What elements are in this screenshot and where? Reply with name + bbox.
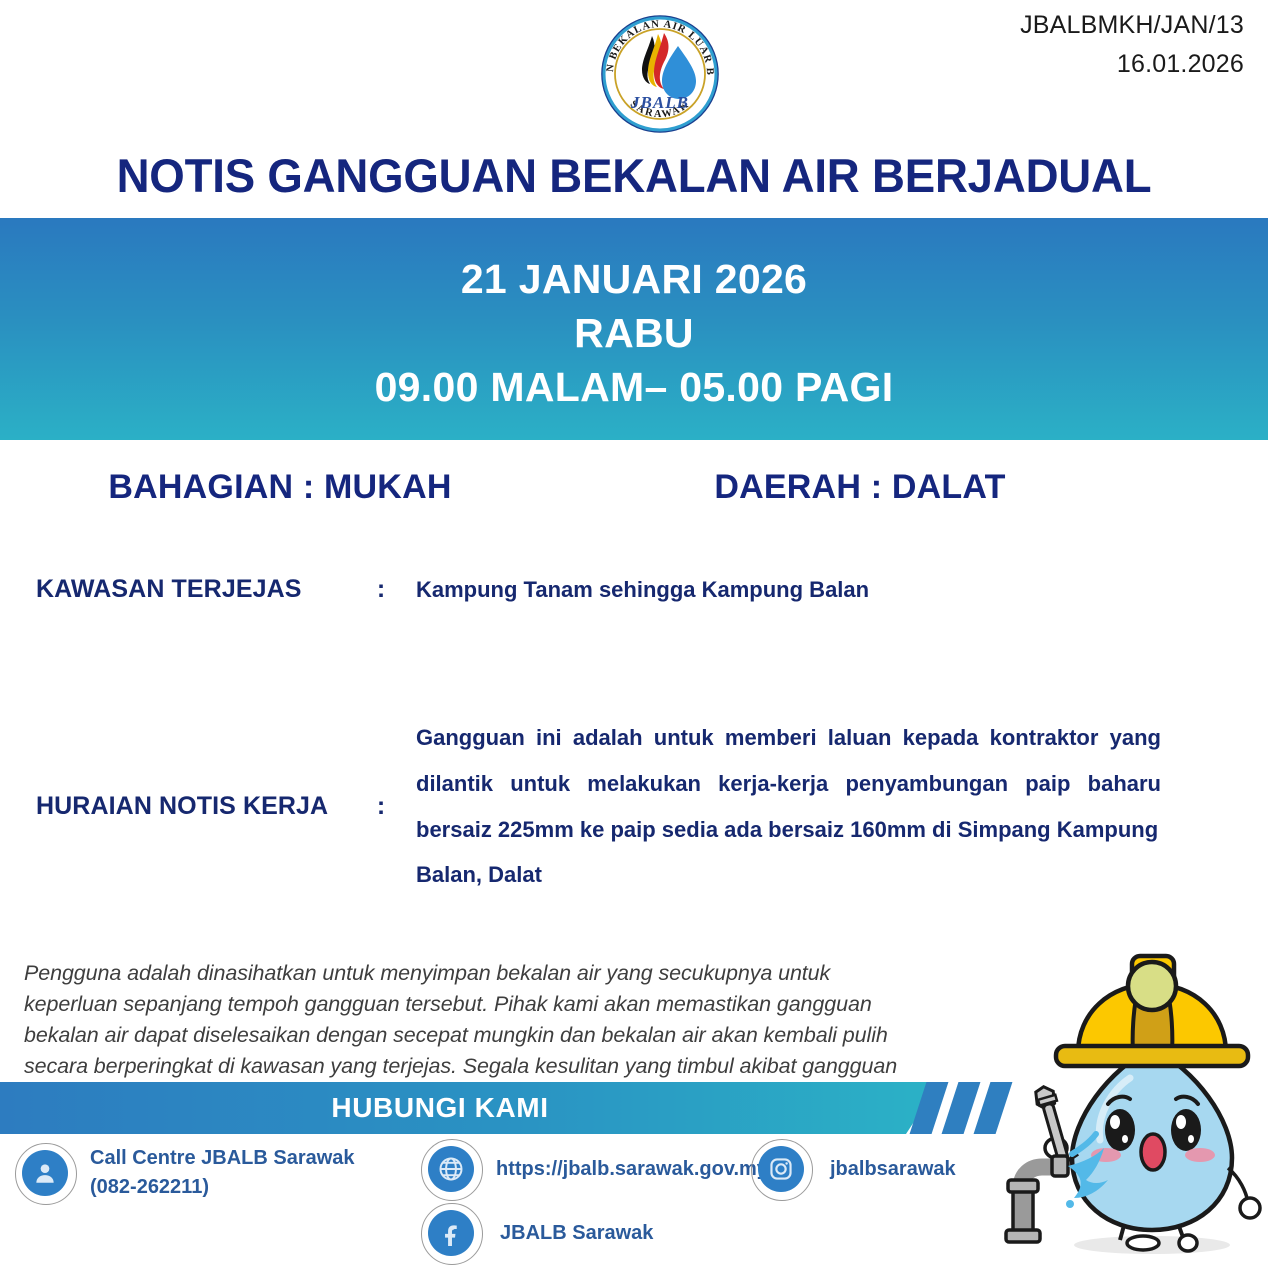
work-description-text: Gangguan ini adalah untuk memberi laluan…: [416, 725, 1161, 842]
reference-number: JBALBMKH/JAN/13: [1020, 6, 1244, 45]
water-droplet-mascot: [1000, 940, 1268, 1268]
instagram-icon: [758, 1146, 804, 1192]
division-label: BAHAGIAN : MUKAH: [0, 468, 560, 507]
reference-block: JBALBMKH/JAN/13 16.01.2026: [1020, 6, 1244, 84]
jbalb-logo: JABATAN BEKALAN AIR LUAR BANDAR SARAWAK …: [592, 4, 728, 140]
contact-banner-bar: HUBUNGI KAMI: [0, 1082, 940, 1134]
slash-accent-2: [942, 1082, 981, 1134]
svg-text:JBALB: JBALB: [630, 93, 689, 112]
call-centre-line1: Call Centre JBALB Sarawak: [90, 1144, 355, 1173]
banner-day: RABU: [574, 306, 694, 360]
work-description-lastline: Balan, Dalat: [416, 852, 1161, 898]
work-description-row: HURAIAN NOTIS KERJA : Gangguan ini adala…: [36, 715, 1216, 898]
mascot-illustration: [1000, 940, 1268, 1268]
district-label: DAERAH : DALAT: [560, 468, 1160, 507]
page-title: NOTIS GANGGUAN BEKALAN AIR BERJADUAL: [19, 148, 1249, 203]
contact-item-call-centre[interactable]: Call Centre JBALB Sarawak (082-262211): [22, 1144, 355, 1202]
notice-poster: JBALBMKH/JAN/13 16.01.2026 JABATAN BEKAL…: [0, 0, 1268, 1268]
contact-banner-title: HUBUNGI KAMI: [331, 1092, 548, 1124]
contact-facebook-text: JBALB Sarawak: [500, 1219, 653, 1248]
contact-instagram-text: jbalbsarawak: [830, 1155, 956, 1184]
affected-area-label: KAWASAN TERJEJAS: [36, 575, 346, 604]
contact-call-centre-text: Call Centre JBALB Sarawak (082-262211): [90, 1144, 355, 1202]
affected-area-row: KAWASAN TERJEJAS : Kampung Tanam sehingg…: [36, 575, 1216, 605]
facebook-icon: [428, 1210, 474, 1256]
reference-date: 16.01.2026: [1020, 45, 1244, 84]
region-row: BAHAGIAN : MUKAH DAERAH : DALAT: [0, 468, 1268, 507]
banner-time: 09.00 MALAM– 05.00 PAGI: [375, 360, 894, 414]
person-icon: [22, 1150, 68, 1196]
work-description-value: Gangguan ini adalah untuk memberi laluan…: [416, 715, 1161, 898]
work-description-colon: :: [346, 792, 416, 821]
affected-area-value: Kampung Tanam sehingga Kampung Balan: [416, 575, 1176, 605]
contact-website-text: https://jbalb.sarawak.gov.my/: [496, 1155, 773, 1184]
jbalb-logo-icon: JABATAN BEKALAN AIR LUAR BANDAR SARAWAK …: [592, 4, 728, 140]
contact-item-facebook[interactable]: JBALB Sarawak: [428, 1210, 653, 1256]
contact-item-instagram[interactable]: jbalbsarawak: [758, 1146, 956, 1192]
affected-area-colon: :: [346, 575, 416, 604]
faucet-icon: [1006, 1156, 1068, 1242]
call-centre-line2: (082-262211): [90, 1173, 355, 1202]
globe-icon: [428, 1146, 474, 1192]
work-description-label: HURAIAN NOTIS KERJA: [36, 792, 346, 821]
banner-date: 21 JANUARI 2026: [461, 252, 807, 306]
contact-item-website[interactable]: https://jbalb.sarawak.gov.my/: [428, 1146, 773, 1192]
date-banner: 21 JANUARI 2026 RABU 09.00 MALAM– 05.00 …: [0, 218, 1268, 440]
